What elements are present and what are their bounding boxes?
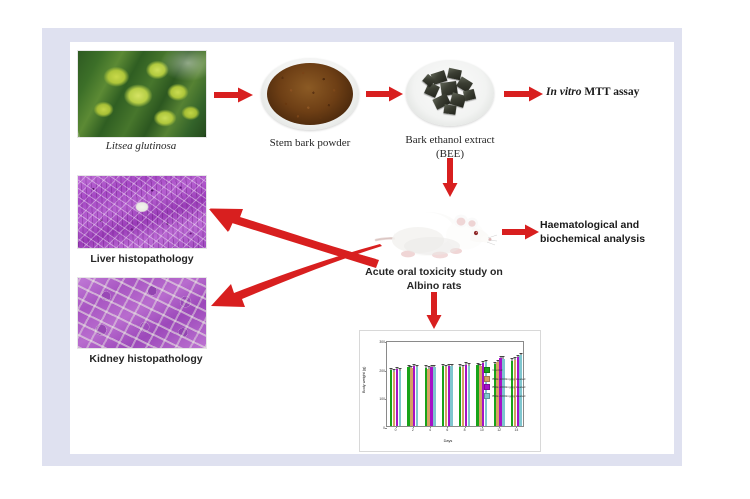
chart-error-bar: [486, 361, 487, 362]
stem-bark-powder-photo: [261, 58, 359, 130]
chart-bar: [433, 367, 435, 426]
chart-error-cap: [433, 365, 436, 366]
chart-error-bar: [434, 366, 435, 367]
haem-label-line1: Haematological and: [540, 218, 676, 232]
kidney-histopathology-micrograph: [77, 277, 207, 349]
chart-error-bar: [480, 365, 481, 366]
chart-legend-label: BEE-3000mg/kg treated: [492, 394, 525, 398]
extract-caption-line1: Bark ethanol extract: [388, 134, 512, 147]
chart-error-bar: [497, 361, 498, 362]
chart-error-bar: [408, 366, 409, 367]
chart-error-bar: [443, 365, 444, 366]
chart-error-bar: [460, 365, 461, 366]
chart-error-bar: [397, 368, 398, 369]
body-weight-chart: Body weight (g) 010020030002468101214 Da…: [359, 330, 541, 452]
chart-xtick-label: 12: [497, 428, 501, 432]
chart-xlabel: Days: [444, 439, 453, 443]
arrow-powder-to-extract: [366, 86, 404, 102]
chart-ytick-label: 0: [383, 426, 385, 430]
arrow-rat-to-haem: [502, 224, 540, 240]
chart-legend-label: Control: [492, 368, 502, 372]
chart-bar-group: [407, 340, 418, 426]
graphical-abstract: Litsea glutinosa Stem bark powder: [0, 0, 750, 499]
plant-caption: Litsea glutinosa: [77, 140, 205, 153]
chart-error-cap: [519, 353, 522, 354]
arrow-plant-to-powder: [214, 87, 254, 103]
figure-canvas: Litsea glutinosa Stem bark powder: [70, 42, 674, 454]
chart-legend-item: Control: [484, 367, 525, 373]
chart-error-bar: [477, 364, 478, 365]
chart-legend-item: BEE-2000mg/kg treated: [484, 384, 525, 390]
chart-error-bar: [520, 354, 521, 355]
chart-legend-label: BEE-1000mg/kg treated: [492, 377, 525, 381]
arrow-rat-to-chart: [426, 292, 442, 330]
powder-caption: Stem bark powder: [253, 137, 367, 150]
chart-error-bar: [451, 365, 452, 366]
chart-error-bar: [483, 362, 484, 363]
haem-label-line2: biochemical analysis: [540, 232, 676, 246]
arrow-extract-to-rat: [442, 158, 458, 198]
mtt-assay-label-rest: MTT assay: [584, 86, 639, 98]
chart-ytick-label: 100: [379, 397, 385, 401]
chart-error-bar: [494, 363, 495, 364]
chart-xtick-label: 2: [412, 428, 414, 432]
chart-xtick-label: 10: [480, 428, 484, 432]
chart-bar: [468, 366, 470, 426]
chart-error-bar: [466, 363, 467, 364]
chart-legend-swatch: [484, 393, 490, 399]
bark-ethanol-extract-photo: [406, 60, 494, 126]
chart-error-bar: [514, 358, 515, 359]
chart-bar: [399, 371, 401, 426]
chart-legend-swatch: [484, 384, 490, 390]
chart-legend-label: BEE-2000mg/kg treated: [492, 385, 525, 389]
chart-legend: ControlBEE-1000mg/kg treatedBEE-2000mg/k…: [484, 367, 525, 399]
chart-error-bar: [500, 357, 501, 358]
chart-error-bar: [517, 356, 518, 357]
chart-bar-group: [442, 340, 453, 426]
chart-error-bar: [425, 366, 426, 367]
mtt-assay-label: In vitro MTT assay: [546, 86, 672, 98]
chart-error-bar: [468, 364, 469, 365]
litsea-glutinosa-plant-photo: [77, 50, 207, 138]
chart-error-cap: [416, 365, 419, 366]
chart-legend-swatch: [484, 376, 490, 382]
haematological-analysis-label: Haematological and biochemical analysis: [540, 218, 676, 246]
kidney-caption: Kidney histopathology: [72, 353, 220, 365]
chart-legend-item: BEE-3000mg/kg treated: [484, 393, 525, 399]
chart-error-bar: [411, 367, 412, 368]
chart-xtick-label: 4: [429, 428, 431, 432]
chart-error-bar: [399, 369, 400, 370]
arrow-extract-to-mtt: [504, 86, 544, 102]
chart-error-cap: [467, 363, 470, 364]
mtt-assay-label-italic: In vitro: [546, 86, 581, 98]
chart-error-bar: [512, 359, 513, 360]
chart-error-cap: [398, 368, 401, 369]
chart-bar: [450, 366, 452, 426]
chart-error-bar: [417, 366, 418, 367]
chart-legend-swatch: [484, 367, 490, 373]
chart-bar-group: [425, 340, 436, 426]
chart-xtick-label: 14: [514, 428, 518, 432]
chart-ylabel: Body weight (g): [362, 367, 366, 393]
chart-error-cap: [502, 356, 505, 357]
liver-histopathology-micrograph: [77, 175, 207, 249]
arrow-rat-to-kidney: [206, 244, 384, 324]
chart-error-cap: [450, 364, 453, 365]
chart-ytick-mark: [385, 428, 387, 429]
chart-bar: [416, 367, 418, 426]
chart-error-bar: [431, 366, 432, 367]
albino-rat-photo: [366, 194, 498, 271]
chart-error-bar: [428, 367, 429, 368]
chart-error-bar: [394, 370, 395, 371]
chart-error-bar: [414, 365, 415, 366]
chart-ytick-label: 300: [379, 340, 385, 344]
chart-error-bar: [391, 369, 392, 370]
chart-xtick-label: 8: [464, 428, 466, 432]
chart-ytick-label: 200: [379, 369, 385, 373]
chart-xtick-label: 0: [395, 428, 397, 432]
chart-error-bar: [448, 365, 449, 366]
chart-error-bar: [445, 366, 446, 367]
liver-caption: Liver histopathology: [72, 253, 212, 265]
chart-xtick-label: 6: [446, 428, 448, 432]
chart-error-bar: [503, 357, 504, 358]
chart-bar-group: [459, 340, 470, 426]
chart-error-bar: [463, 366, 464, 367]
chart-bar-group: [390, 340, 401, 426]
chart-error-cap: [485, 360, 488, 361]
chart-legend-item: BEE-1000mg/kg treated: [484, 376, 525, 382]
